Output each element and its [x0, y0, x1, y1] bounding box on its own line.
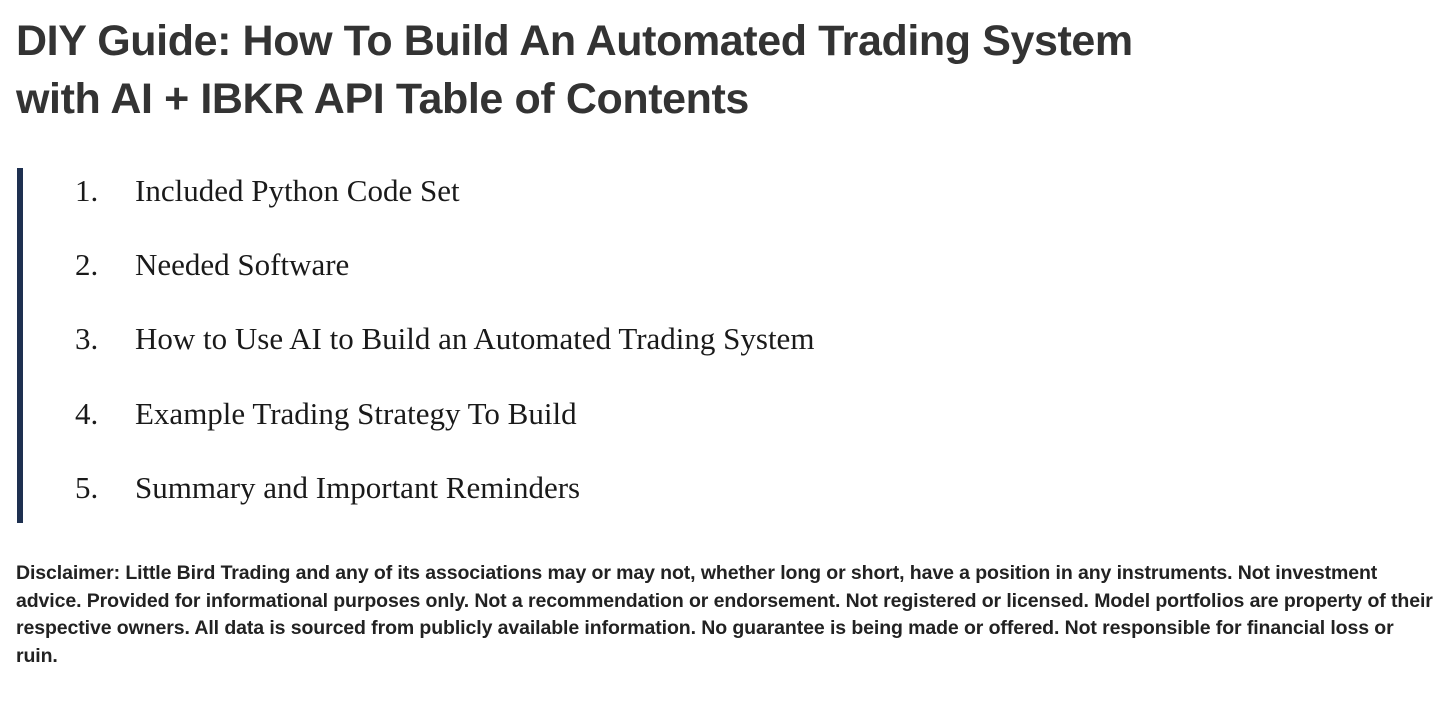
- toc-item-label: Summary and Important Reminders: [135, 465, 580, 511]
- toc-item-number: 5.: [75, 465, 135, 511]
- page-title-line-1: DIY Guide: How To Build An Automated Tra…: [16, 12, 1416, 70]
- document-page: DIY Guide: How To Build An Automated Tra…: [0, 0, 1456, 724]
- page-title-line-2: with AI + IBKR API Table of Contents: [16, 70, 1416, 128]
- list-item: 1. Included Python Code Set: [23, 168, 1437, 242]
- list-item: 2. Needed Software: [23, 242, 1437, 316]
- toc-item-number: 4.: [75, 391, 135, 437]
- toc-item-label: Example Trading Strategy To Build: [135, 391, 577, 437]
- list-item: 5. Summary and Important Reminders: [23, 465, 1437, 539]
- page-title: DIY Guide: How To Build An Automated Tra…: [16, 12, 1416, 128]
- disclaimer-text: Disclaimer: Little Bird Trading and any …: [16, 560, 1440, 670]
- list-item: 4. Example Trading Strategy To Build: [23, 391, 1437, 465]
- toc-item-label: Needed Software: [135, 242, 349, 288]
- toc-item-number: 1.: [75, 168, 135, 214]
- toc-item-number: 3.: [75, 316, 135, 362]
- toc-item-number: 2.: [75, 242, 135, 288]
- toc-item-label: How to Use AI to Build an Automated Trad…: [135, 316, 814, 362]
- table-of-contents: 1. Included Python Code Set 2. Needed So…: [17, 168, 1437, 523]
- toc-list: 1. Included Python Code Set 2. Needed So…: [23, 168, 1437, 539]
- toc-item-label: Included Python Code Set: [135, 168, 460, 214]
- list-item: 3. How to Use AI to Build an Automated T…: [23, 316, 1437, 390]
